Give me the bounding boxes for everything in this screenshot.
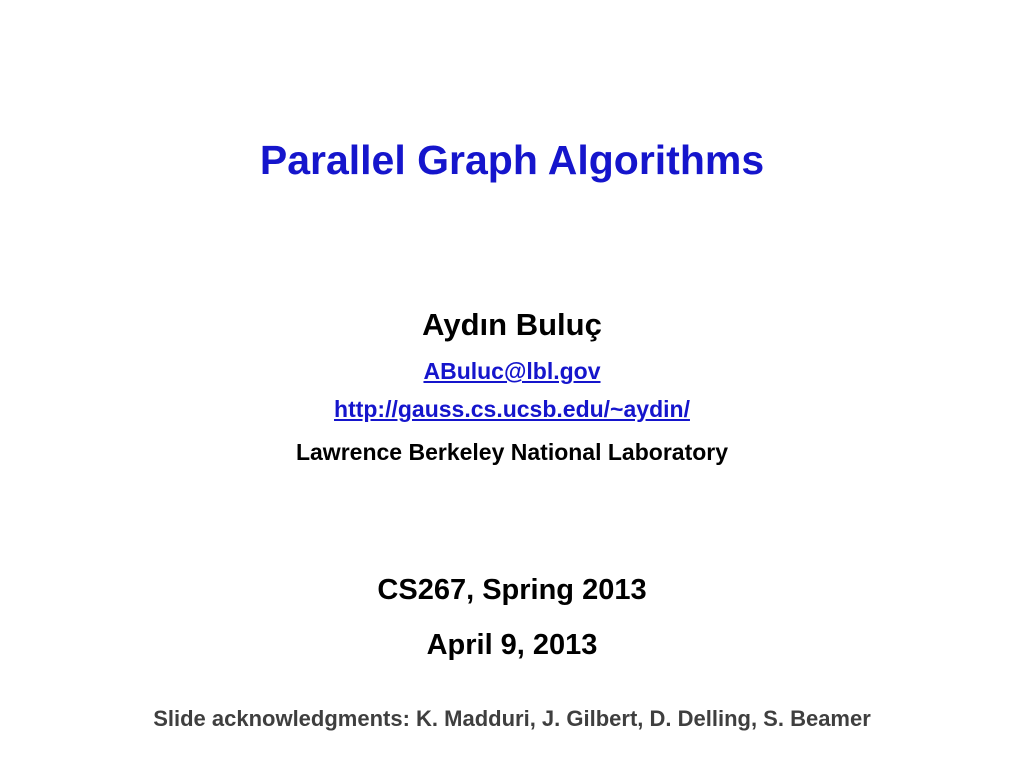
slide-canvas: Parallel Graph Algorithms Aydın Buluç AB… xyxy=(0,0,1024,768)
course-block: CS267, Spring 2013 April 9, 2013 xyxy=(0,570,1024,665)
acknowledgments-text: Slide acknowledgments: K. Madduri, J. Gi… xyxy=(0,706,1024,732)
homepage-line: http://gauss.cs.ucsb.edu/~aydin/ xyxy=(0,394,1024,428)
course-date: April 9, 2013 xyxy=(0,625,1024,665)
author-block: Aydın Buluç ABuluc@lbl.gov http://gauss.… xyxy=(0,305,1024,467)
email-line: ABuluc@lbl.gov xyxy=(0,356,1024,390)
author-name: Aydın Buluç xyxy=(0,305,1024,345)
homepage-link[interactable]: http://gauss.cs.ucsb.edu/~aydin/ xyxy=(334,396,690,422)
email-link[interactable]: ABuluc@lbl.gov xyxy=(423,358,600,384)
page-title: Parallel Graph Algorithms xyxy=(0,137,1024,184)
course-name: CS267, Spring 2013 xyxy=(0,570,1024,610)
affiliation-text: Lawrence Berkeley National Laboratory xyxy=(0,437,1024,467)
